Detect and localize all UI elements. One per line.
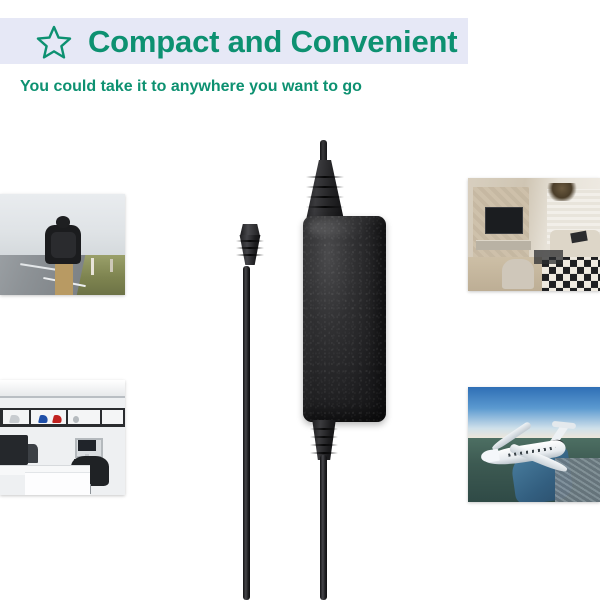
dc-output-cable: [320, 455, 327, 600]
ac-inlet-strain-relief: [306, 160, 344, 220]
photo-living-room: [468, 178, 600, 291]
photo-private-jet: [468, 387, 600, 502]
dc-barrel-connector-tip: [236, 224, 264, 272]
photo-modern-office-art: [0, 380, 125, 495]
page-title: Compact and Convenient: [88, 22, 457, 62]
photo-living-room-art: [468, 178, 600, 291]
adapter-brick: [303, 216, 386, 422]
dc-connector-cable: [243, 266, 250, 600]
product-feature-card: Compact and Convenient You could take it…: [0, 0, 600, 600]
page-subtitle: You could take it to anywhere you want t…: [20, 76, 362, 98]
photo-private-jet-art: [468, 387, 600, 502]
photo-traveler-art: [0, 194, 125, 295]
dc-output-strain-relief: [310, 420, 338, 460]
photo-traveler-on-road: [0, 194, 125, 295]
photo-modern-office: [0, 380, 125, 495]
star-icon: [36, 25, 72, 59]
